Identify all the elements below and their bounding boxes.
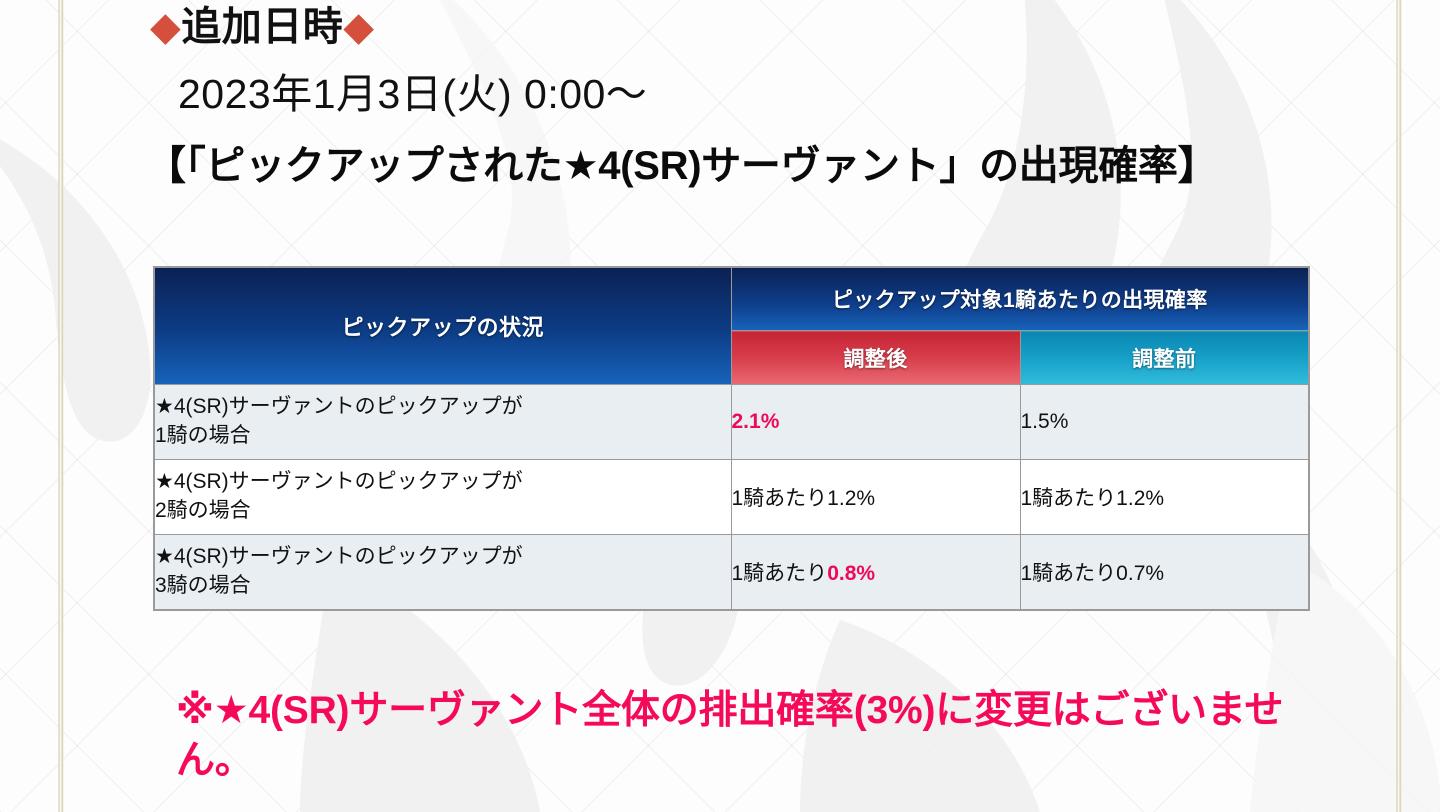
- table-header-row-1: ピックアップの状況 ピックアップ対象1騎あたりの出現確率: [154, 267, 1309, 331]
- situation-line-1: ★4(SR)サーヴァントのピックアップが: [155, 470, 523, 493]
- table-head: ピックアップの状況 ピックアップ対象1騎あたりの出現確率 調整後 調整前: [154, 267, 1309, 385]
- table-row: ★4(SR)サーヴァントのピックアップが 1騎の場合 2.1% 1.5%: [154, 385, 1309, 460]
- rate-after-prefix: 1騎あたり: [732, 562, 828, 585]
- situation-line-2: 3騎の場合: [155, 574, 251, 597]
- column-header-group-rate: ピックアップ対象1騎あたりの出現確率: [731, 267, 1309, 331]
- added-datetime-label: 追加日時: [181, 5, 343, 49]
- situation-line-1: ★4(SR)サーヴァントのピックアップが: [155, 395, 523, 418]
- cell-rate-after: 2.1%: [731, 385, 1020, 460]
- diamond-right-icon: ◆: [343, 5, 374, 49]
- situation-line-1: ★4(SR)サーヴァントのピックアップが: [155, 545, 523, 568]
- announcement-page: ◆追加日時◆ 2023年1月3日(火) 0:00〜 【「ピックアップされた★4(…: [0, 0, 1440, 812]
- rate-after-value: 0.8%: [827, 562, 875, 585]
- rate-after-value: 2.1%: [732, 410, 780, 433]
- footnote-text: ※★4(SR)サーヴァント全体の排出確率(3%)に変更はございません。: [176, 686, 1336, 786]
- section-title: 【「ピックアップされた★4(SR)サーヴァント」の出現確率】: [146, 141, 1326, 191]
- cell-rate-after: 1騎あたり0.8%: [731, 535, 1020, 611]
- cell-situation: ★4(SR)サーヴァントのピックアップが 2騎の場合: [154, 460, 731, 535]
- table-row: ★4(SR)サーヴァントのピックアップが 2騎の場合 1騎あたり1.2% 1騎あ…: [154, 460, 1309, 535]
- cell-rate-before: 1騎あたり1.2%: [1020, 460, 1309, 535]
- cell-situation: ★4(SR)サーヴァントのピックアップが 3騎の場合: [154, 535, 731, 611]
- added-datetime-heading: ◆追加日時◆: [150, 6, 1350, 49]
- cell-rate-before: 1騎あたり0.7%: [1020, 535, 1309, 611]
- column-header-after: 調整後: [731, 331, 1020, 385]
- rate-after-prefix: 1騎あたり1.2%: [732, 487, 876, 510]
- table-row: ★4(SR)サーヴァントのピックアップが 3騎の場合 1騎あたり0.8% 1騎あ…: [154, 535, 1309, 611]
- situation-line-2: 1騎の場合: [155, 424, 251, 447]
- cell-rate-before: 1.5%: [1020, 385, 1309, 460]
- column-header-before: 調整前: [1020, 331, 1309, 385]
- column-header-situation: ピックアップの状況: [154, 267, 731, 385]
- added-datetime-value: 2023年1月3日(火) 0:00〜: [178, 60, 647, 120]
- cell-rate-after: 1騎あたり1.2%: [731, 460, 1020, 535]
- cell-situation: ★4(SR)サーヴァントのピックアップが 1騎の場合: [154, 385, 731, 460]
- situation-line-2: 2騎の場合: [155, 499, 251, 522]
- diamond-left-icon: ◆: [150, 5, 181, 49]
- probability-table: ピックアップの状況 ピックアップ対象1騎あたりの出現確率 調整後 調整前 ★4(…: [153, 266, 1310, 611]
- table-body: ★4(SR)サーヴァントのピックアップが 1騎の場合 2.1% 1.5% ★4(…: [154, 385, 1309, 611]
